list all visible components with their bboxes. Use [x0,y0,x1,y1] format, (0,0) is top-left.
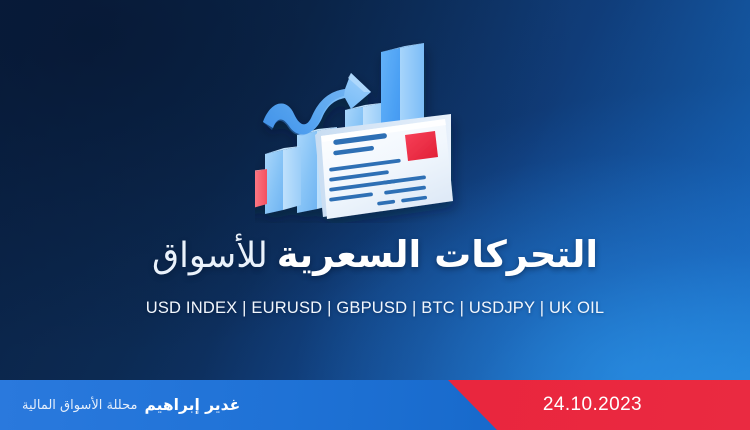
bar-light-blue-medium-front [265,146,301,214]
author-role: محللة الأسواق المالية [22,398,137,413]
market-banner: التحركات السعرية للأسواق USD INDEX | EUR… [0,0,750,430]
footer-bar: غدير إبراهيم محللة الأسواق المالية 24.10… [0,380,750,430]
instruments-subtitle: USD INDEX | EURUSD | GBPUSD | BTC | USDJ… [0,299,750,318]
publish-date: 24.10.2023 [543,380,642,430]
author-credit: غدير إبراهيم محللة الأسواق المالية [22,380,240,430]
document-red-block [405,131,438,161]
page-title: التحركات السعرية للأسواق [0,236,750,275]
title-bold-part: التحركات السعرية [277,236,598,275]
author-name: غدير إبراهيم [144,396,240,414]
financial-chart-newspaper-icon [255,18,495,223]
newspaper-document [315,114,453,219]
title-light-part: للأسواق [152,238,268,275]
